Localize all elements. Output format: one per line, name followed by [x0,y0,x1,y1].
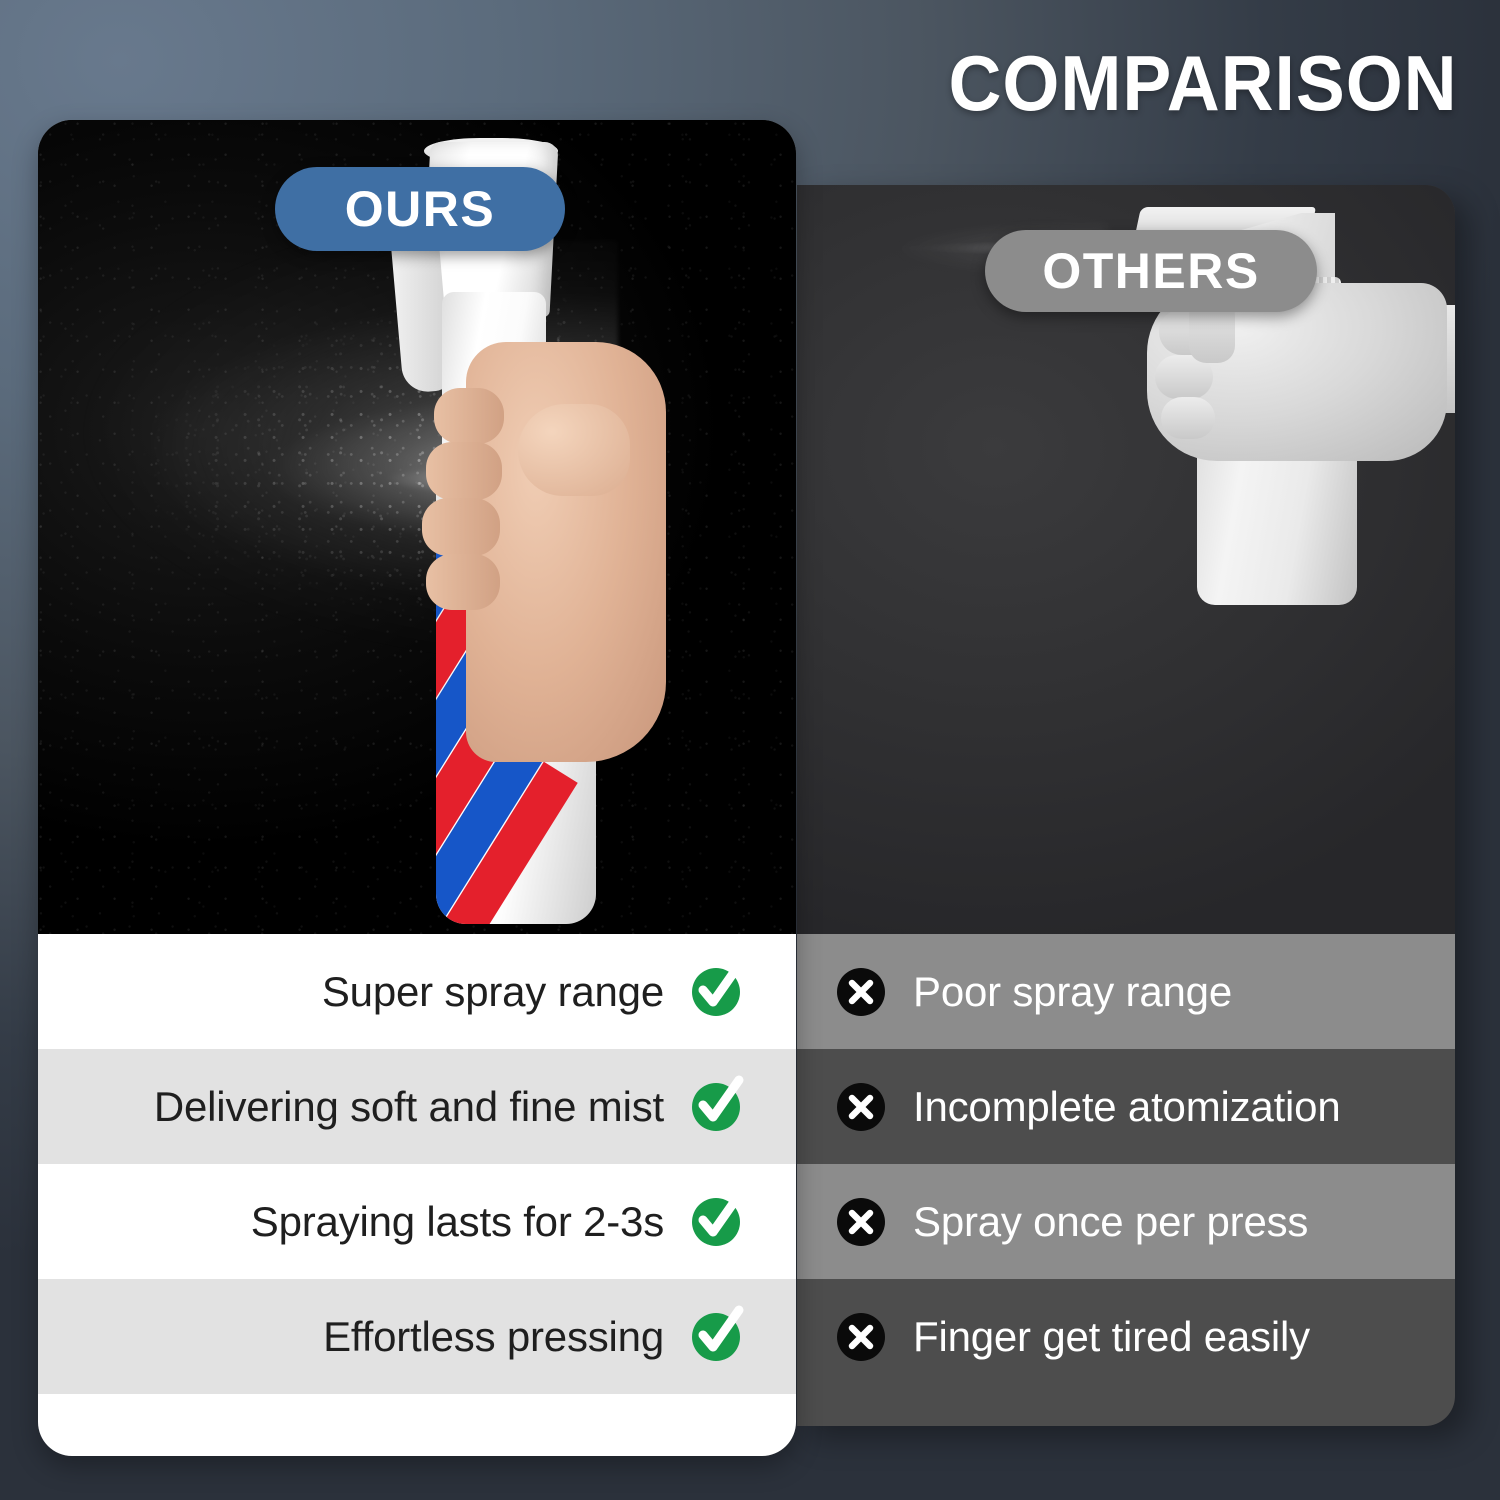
list-item: Delivering soft and fine mist [38,1049,796,1164]
bottle-neck [442,292,546,542]
x-circle-icon [837,1313,885,1361]
list-item-label: Finger get tired easily [913,1313,1310,1361]
mist-cone-graphic [38,240,618,700]
others-comparison-card: Poor spray range Incomplete atomization … [797,185,1455,1426]
list-item: Finger get tired easily [797,1279,1455,1394]
hand-finger [426,442,502,500]
list-item: Poor spray range [797,934,1455,1049]
glove-cuff [1365,305,1455,413]
list-item-label: Delivering soft and fine mist [154,1083,664,1131]
glove-knuckle [1159,309,1221,355]
others-feature-list: Poor spray range Incomplete atomization … [797,934,1455,1394]
list-item-label: Incomplete atomization [913,1083,1341,1131]
list-item: Super spray range [38,934,796,1049]
check-circle-icon [692,1313,740,1361]
bottle-body-striped [436,472,596,924]
x-circle-icon [837,1083,885,1131]
x-circle-icon [837,968,885,1016]
check-circle-icon [692,1198,740,1246]
hand-finger [434,388,504,444]
x-circle-icon [837,1198,885,1246]
check-circle-icon [692,968,740,1016]
hand-finger [426,554,500,610]
list-item: Spraying lasts for 2-3s [38,1164,796,1279]
list-item: Effortless pressing [38,1279,796,1394]
ours-feature-list: Super spray range Delivering soft and fi… [38,934,796,1394]
glove-knuckle [1161,397,1215,439]
mist-droplets-graphic [38,270,578,690]
ours-comparison-card: Super spray range Delivering soft and fi… [38,120,796,1456]
list-item: Spray once per press [797,1164,1455,1279]
list-item-label: Spray once per press [913,1198,1308,1246]
hand-thumb [518,404,630,496]
glove-knuckle [1155,355,1213,399]
list-item-label: Effortless pressing [323,1313,664,1361]
bare-hand [466,342,666,762]
page-title: COMPARISON [949,44,1458,122]
list-item-label: Super spray range [322,968,664,1016]
check-circle-icon [692,1083,740,1131]
bottle-top-lip [424,138,558,164]
list-item-label: Spraying lasts for 2-3s [251,1198,664,1246]
bottle-body [1197,305,1357,605]
badge-others: OTHERS [985,230,1317,312]
mist-spray-bottle-illustration [338,142,588,932]
list-item: Incomplete atomization [797,1049,1455,1164]
list-item-label: Poor spray range [913,968,1232,1016]
hand-finger [422,498,500,556]
badge-ours: OURS [275,167,565,251]
